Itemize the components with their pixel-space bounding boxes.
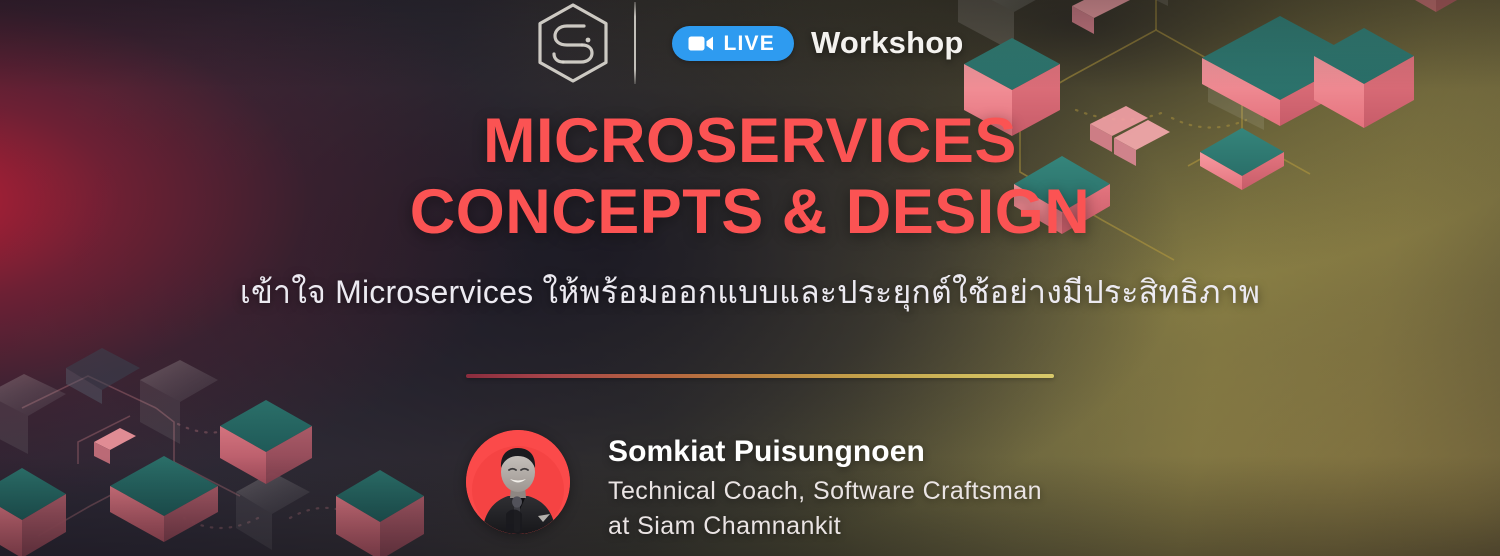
title-line-2: CONCEPTS & DESIGN <box>0 177 1500 248</box>
speaker-portrait-avatar <box>466 430 570 534</box>
live-badge[interactable]: LIVE <box>672 26 793 61</box>
page-title: MICROSERVICES CONCEPTS & DESIGN <box>0 106 1500 247</box>
page-subtitle: เข้าใจ Microservices ให้พร้อมออกแบบและปร… <box>0 272 1500 312</box>
banner-header: LIVE Workshop <box>0 0 1500 86</box>
header-vertical-separator <box>634 2 636 84</box>
avatar <box>466 430 570 534</box>
workshop-label: Workshop <box>811 25 964 61</box>
video-camera-icon <box>688 35 714 52</box>
speaker-meta: Somkiat Puisungnoen Technical Coach, Sof… <box>608 430 1042 544</box>
gradient-divider <box>466 374 1054 378</box>
title-line-1: MICROSERVICES <box>0 106 1500 177</box>
hexagon-stacked-logo-icon <box>536 2 610 84</box>
live-badge-label: LIVE <box>723 33 774 54</box>
speaker-role-line-1: Technical Coach, Software Craftsman <box>608 475 1042 509</box>
workshop-promo-banner: LIVE Workshop MICROSERVICES CONCEPTS & D… <box>0 0 1500 556</box>
speaker-role-line-2: at Siam Chamnankit <box>608 510 1042 544</box>
speaker-block: Somkiat Puisungnoen Technical Coach, Sof… <box>466 430 1042 544</box>
speaker-name: Somkiat Puisungnoen <box>608 434 1042 469</box>
